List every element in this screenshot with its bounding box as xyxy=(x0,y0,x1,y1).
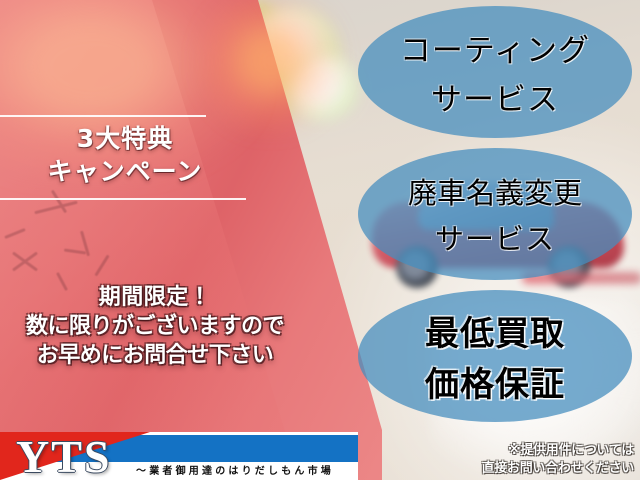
headline-rule-top xyxy=(0,115,206,117)
logo-bar: YTS ～業者御用達のはりだしもん市場 xyxy=(0,432,358,480)
service-badge-coating-line-1: コーティング xyxy=(400,25,590,70)
notice-line-3: お早めにお問合せ下さい xyxy=(0,341,310,370)
headline-rule-bottom xyxy=(0,198,246,200)
notice-line-1: 期間限定！ xyxy=(0,283,310,312)
notice-line-2: 数に限りがございますので xyxy=(0,312,310,341)
service-badge-name-change-line-2: サービス xyxy=(435,216,555,258)
service-badge-name-change-line-1: 廃車名義変更 xyxy=(408,170,582,212)
footnote-line-2: 直接お問い合わせください xyxy=(420,460,634,478)
headline-line-1: 3大特典 xyxy=(77,124,173,153)
service-badge-coating-line-2: サービス xyxy=(431,74,559,119)
campaign-banner: 3大特典 キャンペーン 期間限定！ 数に限りがございますので お早めにお問合せ下… xyxy=(0,0,640,480)
footnote-disclaimer: ※提供用件については 直接お問い合わせください xyxy=(420,442,634,479)
service-badge-price-guarantee-line-1: 最低買取 xyxy=(425,306,565,355)
service-badge-price-guarantee: 最低買取 価格保証 xyxy=(358,290,632,422)
logo-wordmark: YTS xyxy=(16,434,111,480)
headline-line-2: キャンペーン xyxy=(0,157,250,187)
warm-glow-decoration xyxy=(196,0,346,136)
footnote-line-1: ※提供用件については xyxy=(420,442,634,460)
limited-time-notice: 期間限定！ 数に限りがございますので お早めにお問合せ下さい xyxy=(0,283,310,370)
service-badge-name-change: 廃車名義変更 サービス xyxy=(358,148,632,280)
logo-tagline: ～業者御用達のはりだしもん市場 xyxy=(136,462,334,477)
campaign-headline: 3大特典 キャンペーン xyxy=(0,124,250,186)
service-badge-price-guarantee-line-2: 価格保証 xyxy=(425,357,565,406)
service-badge-coating: コーティング サービス xyxy=(358,6,632,138)
